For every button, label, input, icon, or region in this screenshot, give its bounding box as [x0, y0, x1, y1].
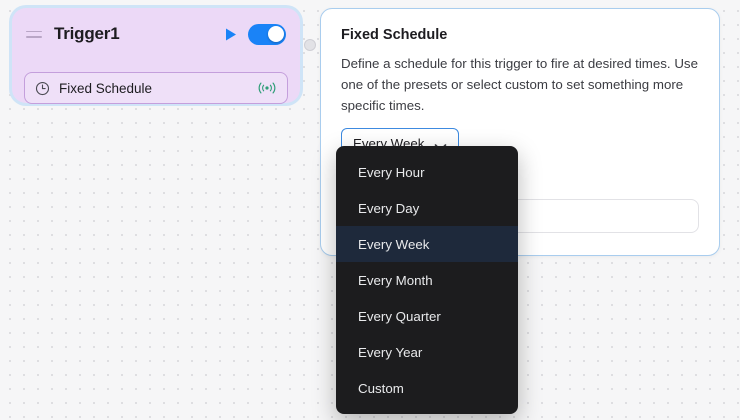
drag-handle-icon[interactable] [26, 28, 42, 40]
trigger-enable-toggle[interactable] [248, 24, 286, 45]
toggle-knob [268, 26, 284, 42]
signal-broadcast-icon [257, 81, 277, 95]
menu-item-every-hour[interactable]: Every Hour [336, 154, 518, 190]
menu-item-label: Every Year [358, 345, 422, 360]
panel-description: Define a schedule for this trigger to fi… [341, 53, 699, 116]
menu-item-label: Every Week [358, 237, 429, 252]
workflow-canvas[interactable]: Trigger1 Fixed Schedule [0, 0, 740, 420]
trigger-node-card[interactable]: Trigger1 Fixed Schedule [12, 8, 300, 103]
menu-item-every-day[interactable]: Every Day [336, 190, 518, 226]
menu-item-every-month[interactable]: Every Month [336, 262, 518, 298]
play-icon[interactable] [222, 25, 240, 43]
menu-item-every-quarter[interactable]: Every Quarter [336, 298, 518, 334]
panel-title: Fixed Schedule [341, 27, 699, 43]
menu-item-custom[interactable]: Custom [336, 370, 518, 406]
menu-item-label: Custom [358, 381, 404, 396]
menu-item-label: Every Quarter [358, 309, 441, 324]
trigger-node-header: Trigger1 [12, 8, 300, 60]
clock-icon [35, 81, 50, 96]
menu-item-label: Every Day [358, 201, 419, 216]
menu-item-every-week[interactable]: Every Week [336, 226, 518, 262]
connector-dot-icon[interactable] [304, 39, 316, 51]
menu-item-label: Every Hour [358, 165, 425, 180]
menu-item-label: Every Month [358, 273, 433, 288]
trigger-node-step[interactable]: Fixed Schedule [24, 72, 288, 104]
trigger-node-step-label: Fixed Schedule [59, 81, 257, 96]
menu-item-every-year[interactable]: Every Year [336, 334, 518, 370]
trigger-node-title: Trigger1 [54, 24, 222, 44]
schedule-preset-dropdown-menu[interactable]: Every HourEvery DayEvery WeekEvery Month… [336, 146, 518, 414]
